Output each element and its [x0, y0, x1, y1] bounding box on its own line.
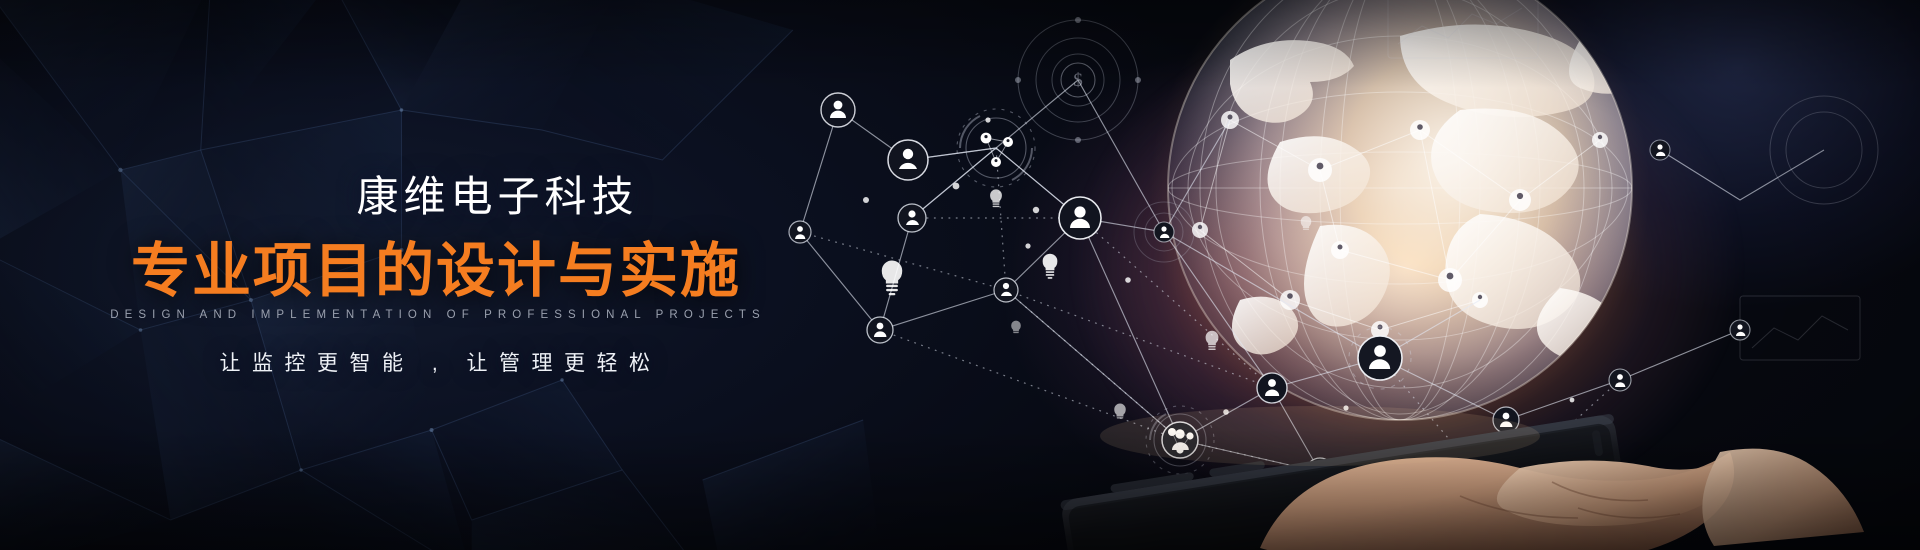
headline: 专业项目的设计与实施: [129, 242, 741, 301]
headline-subtitle-english: DESIGN AND IMPLEMENTATION OF PROFESSIONA…: [104, 310, 766, 322]
company-title: 康维电子科技: [231, 176, 638, 218]
technology-network-illustration: $: [760, 0, 1920, 550]
globe-icon: [1150, 0, 1662, 438]
person-node-icon: [1059, 197, 1101, 239]
person-node-icon: [888, 140, 928, 180]
person-node-icon: [1154, 222, 1174, 242]
person-node-icon: [1358, 336, 1402, 380]
person-node-icon: [867, 317, 893, 343]
tagline: 让监控更智能 , 让管理更轻松: [208, 353, 661, 374]
person-node-icon: [1730, 320, 1750, 340]
person-node-icon: [1257, 373, 1287, 403]
banner-copy: 康维电子科技 专业项目的设计与实施 DESIGN AND IMPLEMENTAT…: [0, 0, 830, 550]
person-node-icon: [1650, 140, 1670, 160]
hero-banner: $: [0, 0, 1920, 550]
person-node-icon: [898, 204, 926, 232]
person-node-icon: [994, 278, 1018, 302]
person-node-icon: [1609, 369, 1631, 391]
